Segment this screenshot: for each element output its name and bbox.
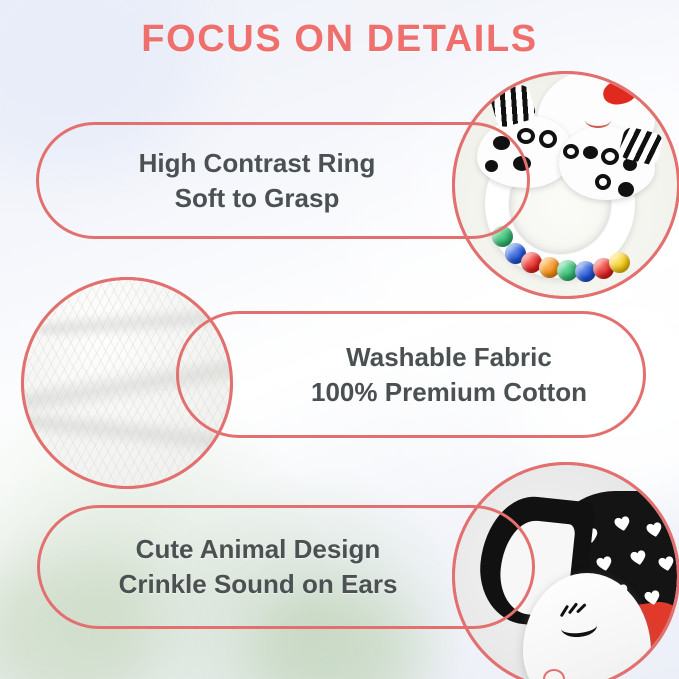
callout-3-text: Cute Animal Design Crinkle Sound on Ears (119, 532, 398, 602)
rattle-ring-photo-overlay (452, 71, 679, 299)
infographic-canvas: FOCUS ON DETAILS (0, 0, 679, 679)
callout-2-line-1: Washable Fabric (311, 340, 587, 375)
fabric-texture-photo-overlay (21, 277, 233, 489)
callout-1-line-2: Soft to Grasp (139, 181, 376, 216)
cat-face-photo-overlay (452, 462, 679, 679)
callout-1-text: High Contrast Ring Soft to Grasp (139, 146, 376, 216)
callout-1-line-1: High Contrast Ring (139, 146, 376, 181)
callout-2-text: Washable Fabric 100% Premium Cotton (311, 340, 587, 410)
callout-3-line-1: Cute Animal Design (119, 532, 398, 567)
page-title: FOCUS ON DETAILS (0, 18, 679, 61)
callout-washable-fabric: Washable Fabric 100% Premium Cotton (176, 311, 646, 438)
callout-3-line-2: Crinkle Sound on Ears (119, 567, 398, 602)
callout-2-line-2: 100% Premium Cotton (311, 375, 587, 410)
